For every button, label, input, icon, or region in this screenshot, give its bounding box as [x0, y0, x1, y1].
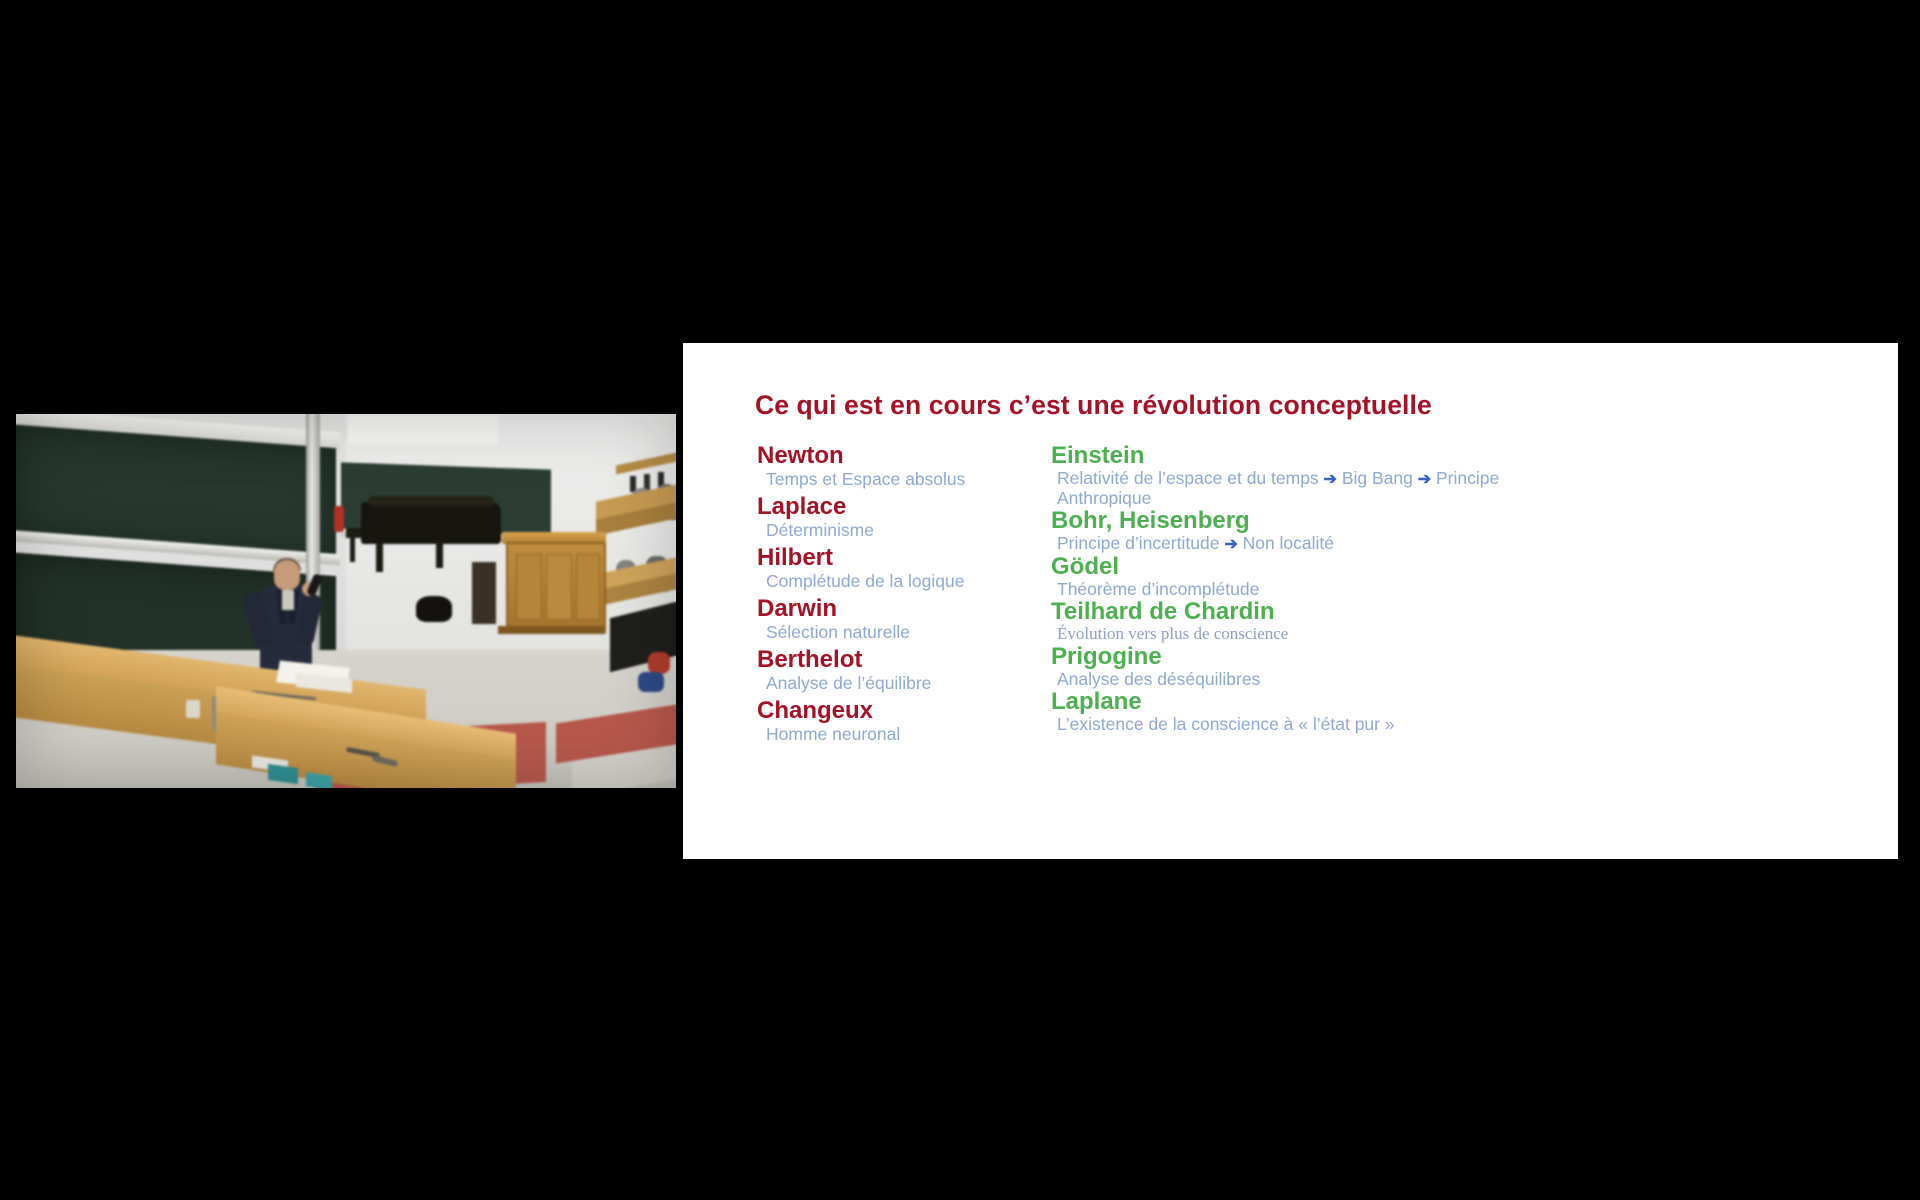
entry-name: Gödel [1051, 554, 1581, 580]
entry-name: Prigogine [1051, 644, 1581, 670]
entry-name: Teilhard de Chardin [1051, 599, 1581, 625]
slide-entry: LaplaneL’existence de la conscience à « … [1051, 689, 1581, 733]
entry-description: Relativité de l’espace et du temps ➔ Big… [1057, 469, 1581, 507]
entry-description: Principe d’incertitude ➔ Non localité [1057, 534, 1581, 554]
slide-entry: Teilhard de ChardinÉvolution vers plus d… [1051, 599, 1581, 643]
video-blur-overlay [16, 414, 676, 788]
slide-title: Ce qui est en cours c’est une révolution… [755, 390, 1432, 421]
entry-description: Théorème d’incomplétude [1057, 580, 1581, 598]
slide-entry: PrigogineAnalyse des déséquilibres [1051, 644, 1581, 688]
arrow-icon: ➔ [1324, 471, 1337, 488]
arrow-icon: ➔ [1224, 536, 1237, 553]
entry-description: Évolution vers plus de conscience [1057, 625, 1581, 643]
entry-description: Analyse des déséquilibres [1057, 670, 1581, 688]
slide-entry: GödelThéorème d’incomplétude [1051, 554, 1581, 598]
entry-name: Bohr, Heisenberg [1051, 508, 1581, 534]
slide-entry: EinsteinRelativité de l’espace et du tem… [1051, 443, 1581, 507]
slide-column-modern: EinsteinRelativité de l’espace et du tem… [1051, 443, 1581, 734]
lecture-player-stage: Ce qui est en cours c’est une révolution… [0, 0, 1920, 1200]
entry-description: L’existence de la conscience à « l’état … [1057, 715, 1581, 733]
slide-entry: Bohr, HeisenbergPrincipe d’incertitude ➔… [1051, 508, 1581, 554]
entry-name: Laplane [1051, 689, 1581, 715]
arrow-icon: ➔ [1418, 471, 1431, 488]
presentation-slide[interactable]: Ce qui est en cours c’est une révolution… [683, 343, 1898, 859]
entry-name: Einstein [1051, 443, 1581, 469]
lecture-video-feed[interactable] [16, 414, 676, 788]
